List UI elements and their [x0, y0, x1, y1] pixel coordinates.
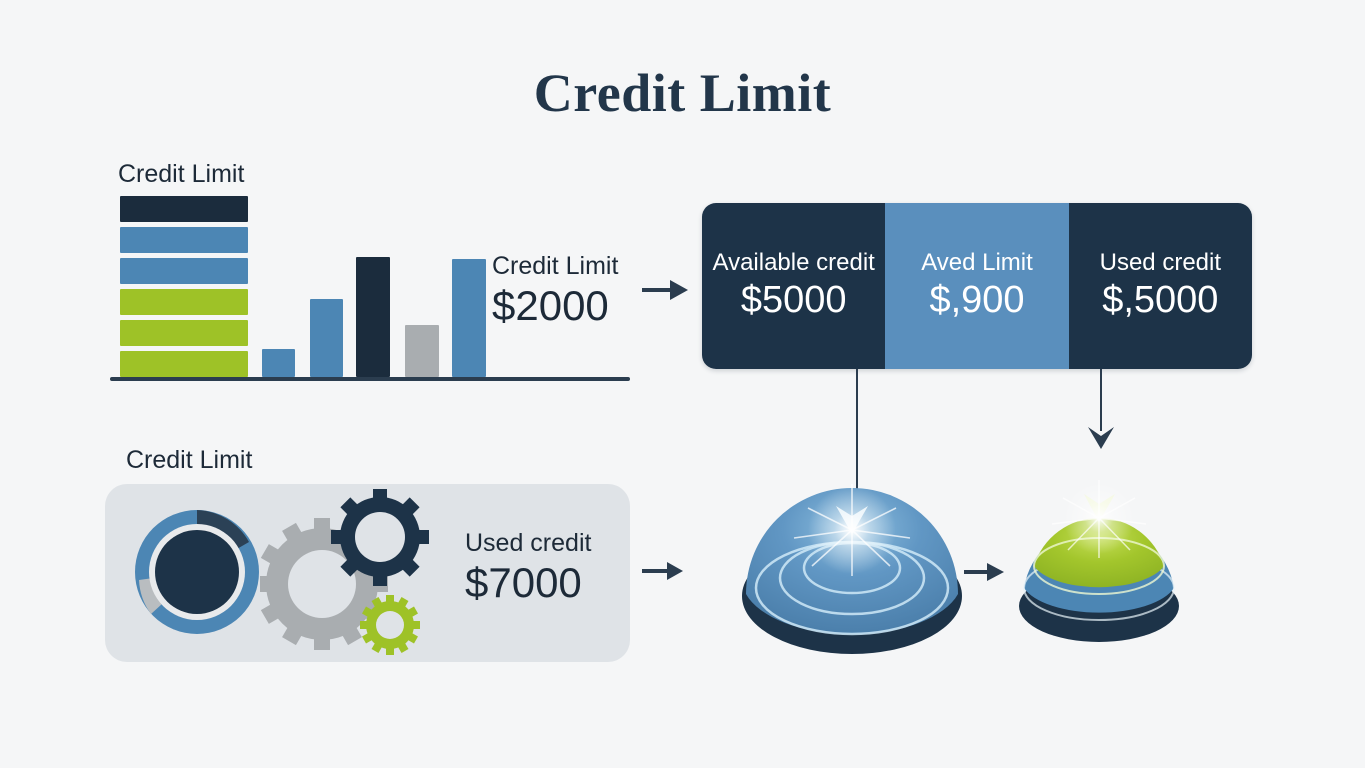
panel-label: Aved Limit — [921, 250, 1033, 276]
panel-value: $,5000 — [1102, 280, 1218, 322]
connector-line-right — [1100, 369, 1102, 431]
arrow-right-icon — [640, 275, 690, 305]
stacked-bar-segment — [120, 258, 248, 284]
bar-item — [405, 325, 439, 377]
bar-item — [262, 349, 295, 377]
bar-chart-label: Credit Limit — [118, 160, 244, 189]
arrow-down-icon — [1086, 425, 1116, 453]
credit-limit-callout: Credit Limit $2000 — [492, 252, 618, 329]
arrow-right-icon — [640, 557, 685, 585]
credit-summary-banner: Available credit $5000 Aved Limit $,900 … — [702, 203, 1252, 369]
callout-value: $7000 — [465, 560, 591, 606]
stacked-bar-segment — [120, 320, 248, 346]
callout-label: Credit Limit — [492, 252, 618, 281]
callout-label: Used credit — [465, 529, 591, 558]
donut-chart-icon — [127, 502, 267, 642]
gear-group — [260, 489, 435, 659]
panel-label: Used credit — [1100, 250, 1221, 276]
gears-card-label: Credit Limit — [126, 446, 252, 475]
layered-dome-blue-icon — [740, 468, 965, 668]
bar-item — [452, 259, 486, 377]
bar-item — [356, 257, 390, 377]
panel-value: $5000 — [741, 280, 847, 322]
bar-item — [310, 299, 343, 377]
stacked-bar-segment — [120, 351, 248, 377]
layered-dome-green-icon — [1012, 470, 1187, 650]
callout-value: $2000 — [492, 283, 618, 329]
panel-value: $,900 — [929, 280, 1024, 322]
used-credit-callout: Used credit $7000 — [465, 529, 591, 606]
diagram-canvas: Credit Limit Credit Limit Credit Limit $… — [0, 0, 1365, 768]
stacked-bar — [120, 196, 248, 377]
stacked-bar-segment — [120, 289, 248, 315]
page-title: Credit Limit — [0, 62, 1365, 124]
stacked-bar-segment — [120, 196, 248, 222]
stacked-bar-segment — [120, 227, 248, 253]
banner-panel-aved-limit[interactable]: Aved Limit $,900 — [885, 203, 1068, 369]
arrow-right-icon — [962, 558, 1006, 586]
banner-panel-available-credit[interactable]: Available credit $5000 — [702, 203, 885, 369]
gear-dark-icon — [331, 489, 429, 586]
used-credit-card: Used credit $7000 — [105, 484, 630, 662]
banner-panel-used-credit[interactable]: Used credit $,5000 — [1069, 203, 1252, 369]
chart-axis-line — [110, 377, 630, 381]
panel-label: Available credit — [713, 250, 875, 276]
